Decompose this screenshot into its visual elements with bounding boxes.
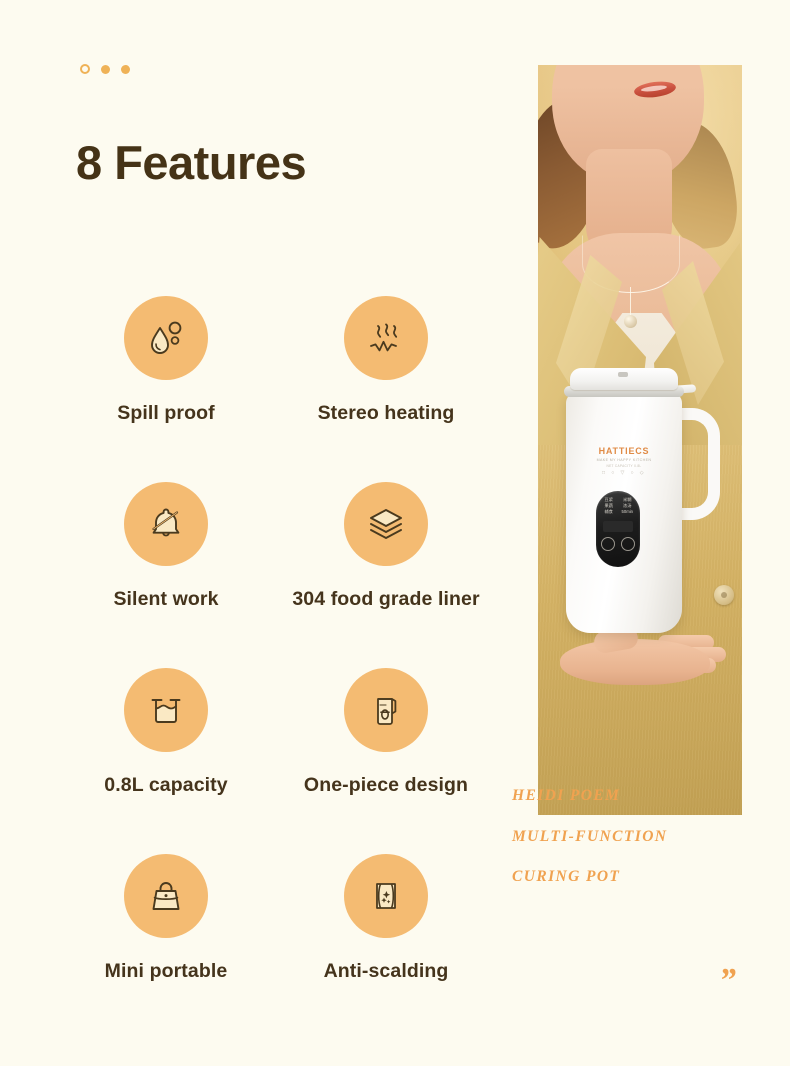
panel-label: 浓汤 [620, 504, 636, 508]
feature-item-silent-work: Silent work [62, 482, 270, 668]
feature-icon-circle [124, 482, 208, 566]
features-grid: Spill proof Stereo heating [62, 296, 502, 1040]
panel-label: 果蔬 [601, 504, 617, 508]
panel-timer-button[interactable] [621, 537, 635, 551]
product-control-panel[interactable]: 豆浆 米糊 果蔬 浓汤 辅食 50min [596, 491, 640, 567]
feature-item-food-grade-liner: 304 food grade liner [270, 482, 502, 668]
product-lifestyle-photo: HATTIECS MAKE MY HAPPY KITCHEN NET CAPAC… [538, 65, 742, 815]
feature-label: 0.8L capacity [104, 774, 227, 797]
measuring-cup-icon [143, 687, 189, 733]
product-brand-name: HATTIECS [584, 446, 664, 456]
feature-item-spill-proof: Spill proof [62, 296, 270, 482]
pitcher-jug-icon [363, 687, 409, 733]
caption-line-1: HEIDI POEM [512, 787, 620, 805]
feature-label: Stereo heating [318, 402, 455, 425]
feature-label: Mini portable [105, 960, 228, 983]
feature-icon-circle [124, 296, 208, 380]
panel-mode-labels: 豆浆 米糊 果蔬 浓汤 辅食 50min [601, 498, 635, 515]
necklace-pendant [624, 315, 637, 328]
decorative-dots [80, 64, 130, 74]
product-brand-icons: □ ○ ▽ ○ ◇ [584, 470, 664, 476]
product-brand-capacity: NET CAPACITY 0.8L [584, 464, 664, 468]
sparkle-panel-icon [363, 873, 409, 919]
dot-solid-icon-1 [101, 65, 110, 74]
panel-label: 米糊 [620, 498, 636, 502]
panel-buttons [601, 537, 635, 551]
feature-item-capacity: 0.8L capacity [62, 668, 270, 854]
feature-label: Spill proof [117, 402, 215, 425]
feature-label: One-piece design [304, 774, 468, 797]
feature-item-anti-scalding: Anti-scalding [270, 854, 502, 1040]
feature-label: Silent work [113, 588, 218, 611]
blazer-button [714, 585, 734, 605]
feature-label: 304 food grade liner [292, 588, 479, 611]
feature-icon-circle [344, 296, 428, 380]
product-brand-tagline: MAKE MY HAPPY KITCHEN [584, 458, 664, 462]
closing-quote-mark: ” [719, 964, 737, 998]
page-title: 8 Features [76, 136, 306, 190]
feature-icon-circle [344, 854, 428, 938]
panel-display-screen [603, 521, 633, 532]
water-drop-spill-proof-icon [143, 315, 189, 361]
feature-item-one-piece-design: One-piece design [270, 668, 502, 854]
stacked-layers-icon [363, 501, 409, 547]
heat-waves-icon [363, 315, 409, 361]
feature-item-mini-portable: Mini portable [62, 854, 270, 1040]
feature-icon-circle [124, 854, 208, 938]
dot-solid-icon-2 [121, 65, 130, 74]
panel-start-cancel-button[interactable] [601, 537, 615, 551]
feature-item-stereo-heating: Stereo heating [270, 296, 502, 482]
panel-label: 辅食 [601, 510, 617, 514]
feature-icon-circle [344, 668, 428, 752]
dot-hollow-icon [80, 64, 90, 74]
feature-label: Anti-scalding [324, 960, 449, 983]
bell-muted-icon [143, 501, 189, 547]
infographic-page: 8 Features Spill proof [0, 0, 790, 1066]
necklace-chain [630, 287, 631, 317]
feature-icon-circle [344, 482, 428, 566]
caption-line-3: CURING POT [512, 868, 620, 886]
soup-maker-product: HATTIECS MAKE MY HAPPY KITCHEN NET CAPAC… [556, 368, 696, 648]
handbag-icon [143, 873, 189, 919]
panel-label: 豆浆 [601, 498, 617, 502]
product-lid-knob [618, 372, 628, 377]
panel-label: 50min [620, 510, 636, 514]
feature-icon-circle [124, 668, 208, 752]
caption-line-2: MULTI-FUNCTION [512, 828, 667, 846]
